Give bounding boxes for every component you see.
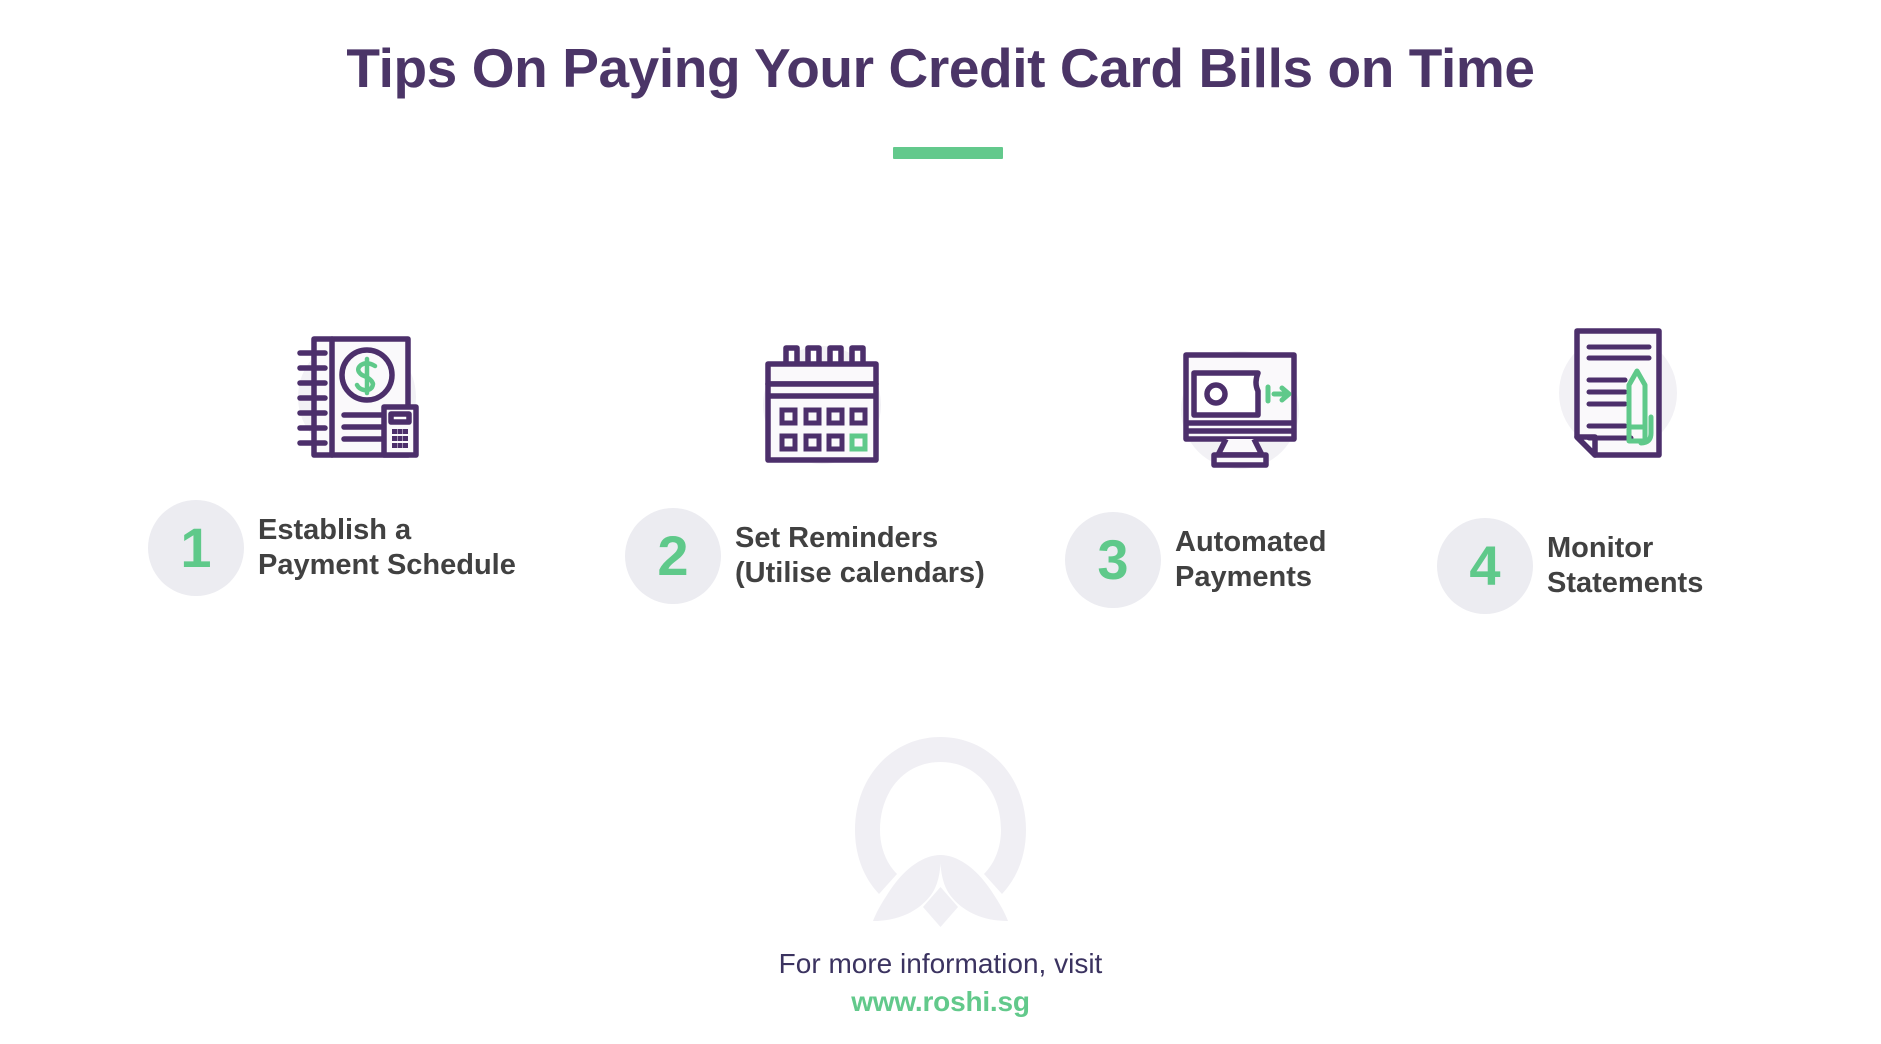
ledger-calculator-icon [292, 331, 422, 463]
step-label-line2: Payment Schedule [258, 548, 516, 583]
step-label: Monitor Statements [1547, 531, 1703, 602]
step-number-badge: 1 [148, 500, 244, 596]
step-4-label-row: 4 Monitor Statements [1437, 518, 1703, 614]
steps-row: 1 Establish a Payment Schedule [0, 340, 1881, 640]
step-number-badge: 4 [1437, 518, 1533, 614]
step-label: Automated Payments [1175, 525, 1326, 596]
footer-cta-text: For more information, visit [0, 948, 1881, 980]
step-1-label-row: 1 Establish a Payment Schedule [148, 500, 516, 596]
step-label: Establish a Payment Schedule [258, 513, 516, 584]
monitor-banknote-transfer-icon [1178, 351, 1302, 469]
step-label-line2: Statements [1547, 566, 1703, 601]
step-number-badge: 3 [1065, 512, 1161, 608]
step-label: Set Reminders (Utilise calendars) [735, 521, 985, 592]
document-pen-icon [1563, 325, 1673, 461]
footer-website-link[interactable]: www.roshi.sg [0, 986, 1881, 1018]
step-4-icon-container [1543, 318, 1693, 468]
step-1-icon-container [282, 322, 432, 472]
step-number-badge: 2 [625, 508, 721, 604]
roshi-logo-watermark [853, 735, 1028, 935]
infographic-canvas: Tips On Paying Your Credit Card Bills on… [0, 0, 1881, 1044]
step-2-label-row: 2 Set Reminders (Utilise calendars) [625, 508, 985, 604]
title-divider-bar [893, 147, 1003, 159]
roshi-logo-icon [853, 735, 1028, 935]
step-label-line2: Payments [1175, 560, 1326, 595]
step-label-line1: Set Reminders [735, 521, 985, 556]
step-3-icon-container [1165, 335, 1315, 485]
step-label-line1: Monitor [1547, 531, 1703, 566]
step-3-label-row: 3 Automated Payments [1065, 512, 1326, 608]
step-label-line1: Automated [1175, 525, 1326, 560]
page-title: Tips On Paying Your Credit Card Bills on… [0, 38, 1881, 99]
step-label-line1: Establish a [258, 513, 516, 548]
step-2-icon-container [747, 330, 897, 480]
step-label-line2: (Utilise calendars) [735, 556, 985, 591]
calendar-icon [758, 344, 886, 466]
